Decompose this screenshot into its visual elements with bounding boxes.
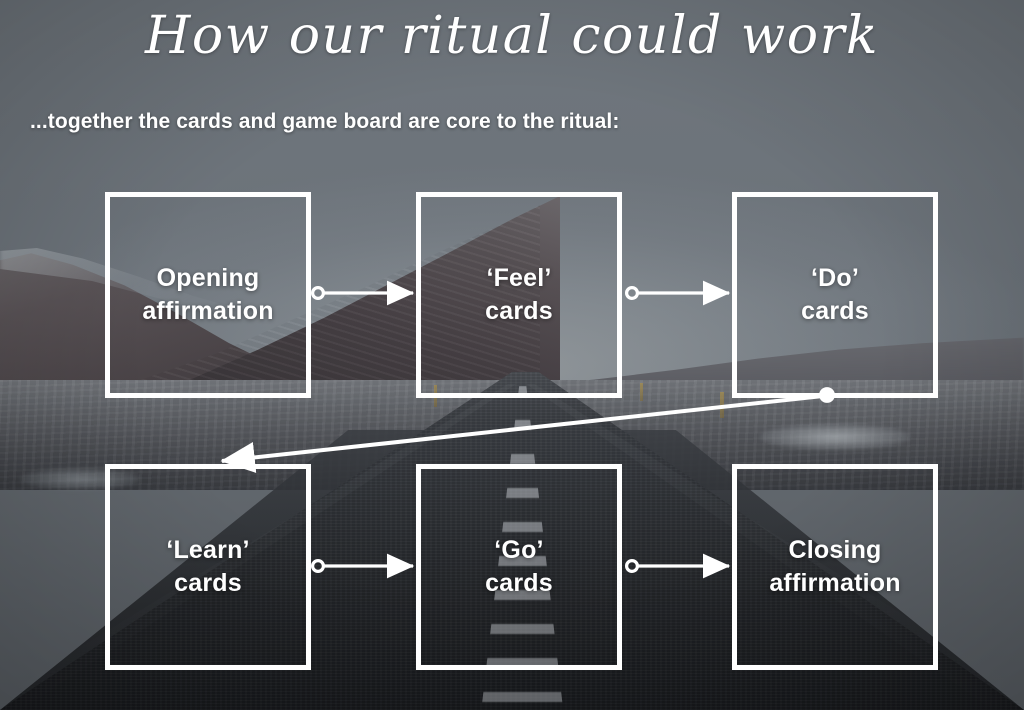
flow-node-label-line2: cards [801,297,869,325]
flow-node-label-line1: Opening [157,264,260,292]
flow-node-opening-affirmation[interactable]: Opening affirmation [105,192,311,398]
flow-node-label-line1: Closing [788,536,881,564]
connector-do-to-learn [222,389,833,461]
flow-node-closing-affirmation[interactable]: Closing affirmation [732,464,938,670]
connector-go-to-closing [627,561,729,572]
connector-learn-to-go [313,561,413,572]
flow-node-label-line1: ‘Learn’ [166,536,249,564]
flow-node-label-line1: ‘Go’ [494,536,543,564]
flow-node-label-line2: affirmation [769,569,900,597]
slide-subtitle: ...together the cards and game board are… [30,110,619,134]
flow-node-label-line2: cards [485,569,553,597]
flow-node-learn-cards[interactable]: ‘Learn’ cards [105,464,311,670]
connector-opening-to-feel [313,288,413,299]
flow-node-do-cards[interactable]: ‘Do’ cards [732,192,938,398]
flow-node-label-line1: ‘Feel’ [486,264,551,292]
slide-title: How our ritual could work [0,2,1024,70]
presentation-slide: How our ritual could work ...together th… [0,0,1024,710]
flow-node-label-line2: affirmation [142,297,273,325]
flow-node-label-line1: ‘Do’ [811,264,859,292]
connector-feel-to-do [627,288,729,299]
flow-node-go-cards[interactable]: ‘Go’ cards [416,464,622,670]
flow-node-feel-cards[interactable]: ‘Feel’ cards [416,192,622,398]
flow-node-label-line2: cards [485,297,553,325]
flow-node-label-line2: cards [174,569,242,597]
